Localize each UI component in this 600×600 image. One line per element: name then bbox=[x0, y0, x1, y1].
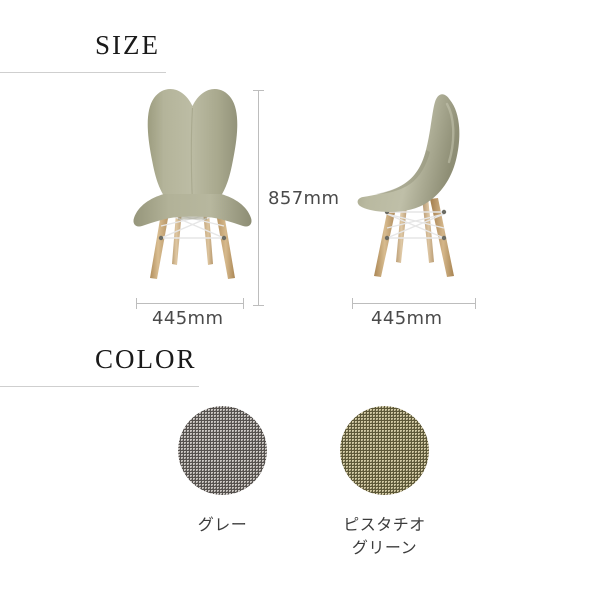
chair-shell-side bbox=[358, 94, 460, 212]
height-dimension-label: 857mm bbox=[268, 188, 339, 209]
color-swatch-gray-disc[interactable] bbox=[178, 406, 267, 495]
chair-side-view bbox=[352, 78, 482, 303]
chair-seat-shadow bbox=[178, 217, 207, 220]
front-width-dimension-label: 445mm bbox=[152, 308, 223, 329]
color-heading-rule bbox=[0, 386, 199, 387]
side-width-dimension-label: 445mm bbox=[371, 308, 442, 329]
color-swatch-gray[interactable]: グレー bbox=[150, 406, 295, 536]
color-swatch-pistachio-green-label-line2: グリーン bbox=[312, 536, 457, 559]
color-swatch-pistachio-green-label: ピスタチオ グリーン bbox=[312, 513, 457, 559]
color-swatch-pistachio-green-disc[interactable] bbox=[340, 406, 429, 495]
size-heading-rule bbox=[0, 72, 166, 73]
size-heading-text: SIZE bbox=[95, 32, 160, 59]
height-dimension-line bbox=[258, 90, 259, 306]
front-width-dimension-line bbox=[136, 303, 244, 304]
side-width-dimension-line bbox=[352, 303, 476, 304]
color-swatch-gray-label: グレー bbox=[150, 513, 295, 536]
chair-front-view bbox=[120, 78, 265, 303]
chair-seat-pan bbox=[133, 194, 251, 227]
fabric-weave-texture-pistachio-green bbox=[340, 406, 429, 495]
fabric-weave-texture-gray bbox=[178, 406, 267, 495]
color-heading-text: COLOR bbox=[95, 346, 197, 373]
color-swatch-gray-label-line1: グレー bbox=[198, 515, 248, 534]
color-swatch-pistachio-green[interactable]: ピスタチオ グリーン bbox=[312, 406, 457, 559]
color-swatch-pistachio-green-label-line1: ピスタチオ bbox=[343, 515, 426, 534]
